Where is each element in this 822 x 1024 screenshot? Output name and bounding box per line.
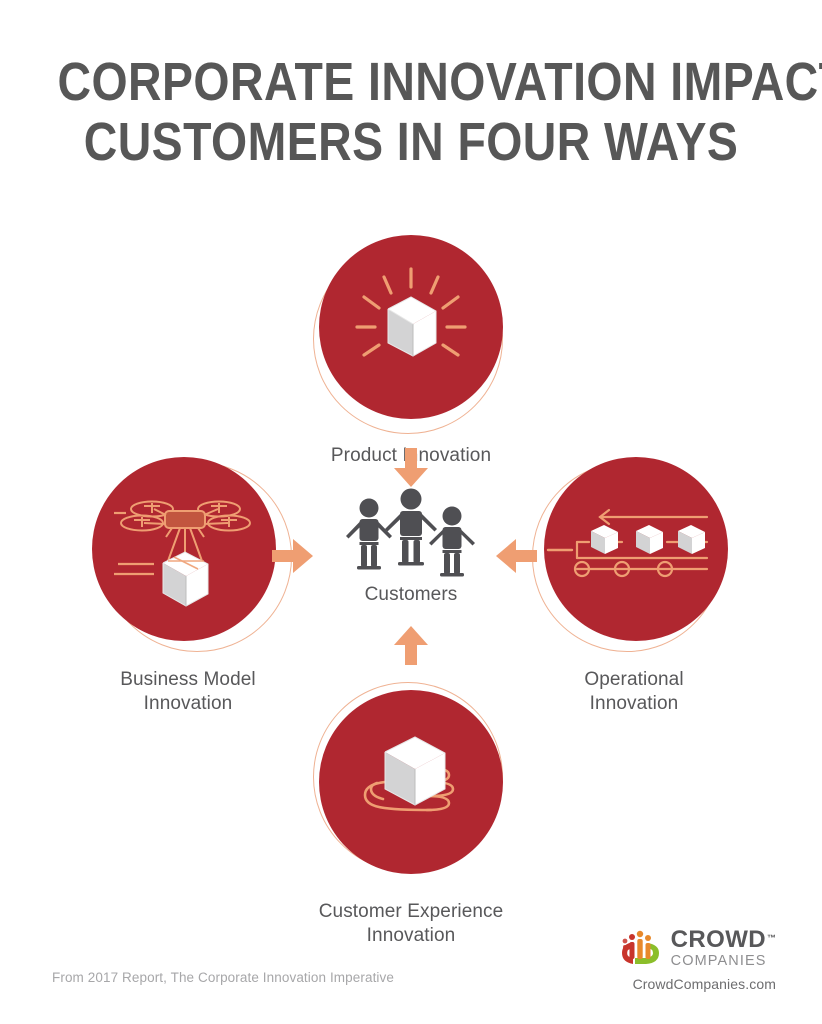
arrow-operational-to-customers (496, 537, 538, 580)
arrow-left-icon (496, 537, 538, 575)
source-note: From 2017 Report, The Corporate Innovati… (52, 970, 394, 985)
node-business-label: Business Model Innovation (88, 668, 288, 716)
node-business-label-line2: Innovation (88, 692, 288, 716)
node-product-circle (319, 235, 503, 419)
arrow-up-icon (392, 626, 430, 666)
box-shape-2 (636, 525, 663, 554)
logo-row: CROWD™ COMPANIES (618, 928, 776, 969)
box-shape (388, 297, 436, 356)
logo-subtitle: COMPANIES (671, 954, 776, 969)
node-business-model-innovation[interactable]: Business Model Innovation (88, 456, 288, 716)
crowd-companies-mark-icon (618, 930, 662, 966)
node-cx-label-line2: Innovation (311, 924, 511, 948)
trademark-symbol: ™ (767, 933, 776, 943)
three-people-icon (341, 486, 481, 578)
hand-holding-box-icon (319, 690, 503, 874)
arrow-down-icon (392, 448, 430, 488)
logo-wordmark: CROWD™ COMPANIES (671, 928, 776, 969)
infographic-page: CORPORATE INNOVATION IMPACTS CUSTOMERS I… (0, 0, 822, 1024)
node-operational-label-line1: Operational (534, 668, 734, 692)
node-operational-label: Operational Innovation (534, 668, 734, 716)
arrow-right-icon (272, 537, 314, 575)
center-customers: Customers (311, 486, 511, 606)
box-shape-1 (591, 525, 618, 554)
box-shape (163, 552, 208, 606)
arrow-product-to-customers (392, 448, 430, 493)
diagram-stage: Product Innovation (0, 0, 822, 1024)
node-operational-innovation[interactable]: Operational Innovation (534, 456, 734, 716)
glowing-box-icon (319, 235, 503, 419)
node-product-circle-wrap (311, 232, 511, 432)
node-product-innovation[interactable]: Product Innovation (311, 232, 511, 468)
node-business-circle (92, 457, 276, 641)
node-operational-circle-wrap (534, 456, 734, 656)
node-customer-experience-innovation[interactable]: Customer Experience Innovation (311, 688, 511, 948)
node-cx-label-line1: Customer Experience (311, 900, 511, 924)
node-business-circle-wrap (88, 456, 288, 656)
drone-delivery-icon (92, 457, 276, 641)
node-cx-circle (319, 690, 503, 874)
node-cx-circle-wrap (311, 688, 511, 888)
logo-name-row: CROWD™ (671, 928, 776, 952)
arrow-cx-to-customers (392, 626, 430, 671)
conveyor-belt-icon (544, 457, 728, 641)
node-operational-label-line2: Innovation (534, 692, 734, 716)
box-shape-3 (678, 525, 705, 554)
node-business-label-line1: Business Model (88, 668, 288, 692)
logo-url[interactable]: CrowdCompanies.com (618, 976, 776, 992)
node-operational-circle (544, 457, 728, 641)
node-cx-label: Customer Experience Innovation (311, 900, 511, 948)
arrow-business-to-customers (272, 537, 314, 580)
center-customers-label: Customers (311, 584, 511, 606)
crowd-companies-logo[interactable]: CROWD™ COMPANIES CrowdCompanies.com (618, 928, 776, 992)
logo-name: CROWD (671, 928, 766, 952)
